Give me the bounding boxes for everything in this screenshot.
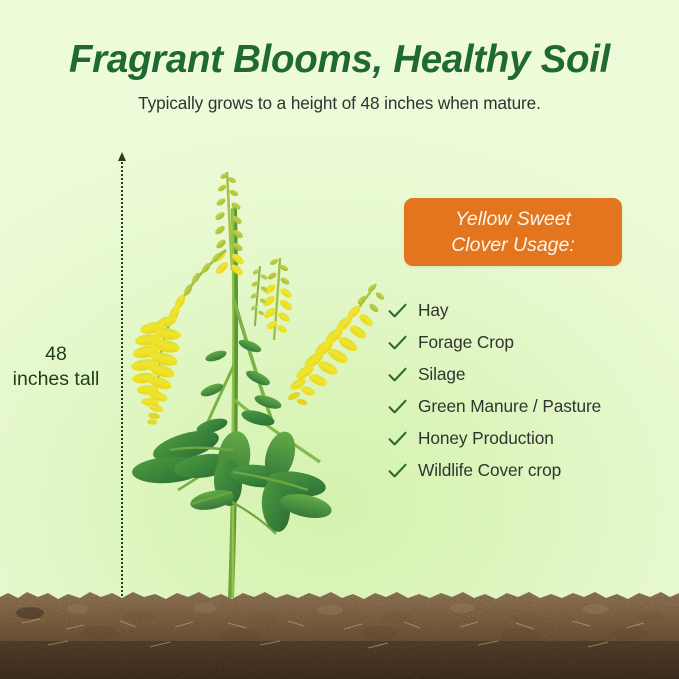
height-label: 48 inches tall [0,342,112,392]
list-item: Green Manure / Pasture [388,392,668,422]
flower-spike-center [212,172,245,277]
usage-item-label: Silage [418,364,465,385]
flower-spike-right [287,283,386,407]
usage-badge-line1: Yellow Sweet [455,206,571,232]
list-item: Forage Crop [388,328,668,358]
usage-item-label: Hay [418,300,448,321]
usage-item-label: Green Manure / Pasture [418,396,601,417]
check-icon [388,461,418,481]
height-value: 48 [0,342,112,367]
check-icon [388,333,418,353]
flower-spike-upper-right [261,258,294,340]
usage-item-label: Forage Crop [418,332,514,353]
infographic-canvas: Fragrant Blooms, Healthy Soil Typically … [0,0,679,679]
page-title: Fragrant Blooms, Healthy Soil [0,38,679,82]
list-item: Honey Production [388,424,668,454]
usage-badge: Yellow Sweet Clover Usage: [404,198,622,266]
list-item: Hay [388,296,668,326]
list-item: Wildlife Cover crop [388,456,668,486]
check-icon [388,365,418,385]
usage-list: Hay Forage Crop Silage Green Manure / Pa… [388,296,668,488]
check-icon [388,301,418,321]
height-unit: inches tall [0,367,112,392]
usage-item-label: Honey Production [418,428,554,449]
list-item: Silage [388,360,668,390]
usage-item-label: Wildlife Cover crop [418,460,561,481]
check-icon [388,429,418,449]
page-subtitle: Typically grows to a height of 48 inches… [0,93,679,114]
yellow-sweet-clover-plant [108,150,398,598]
usage-badge-line2: Clover Usage: [451,232,575,258]
flower-spike-left [130,250,226,425]
soil-ground [0,583,679,679]
header: Fragrant Blooms, Healthy Soil Typically … [0,0,679,114]
check-icon [388,397,418,417]
